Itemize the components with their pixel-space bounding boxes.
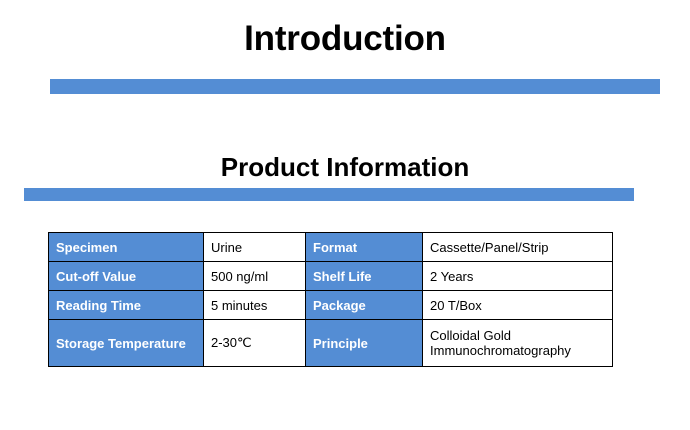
section-divider-bar — [24, 188, 634, 201]
cell-value-storage-temperature: 2-30℃ — [204, 320, 306, 367]
table-row: Cut-off Value 500 ng/ml Shelf Life 2 Yea… — [49, 262, 613, 291]
cell-label-specimen: Specimen — [49, 233, 204, 262]
cell-value-principle-line2: Immunochromatography — [430, 343, 605, 358]
cell-value-cut-off-value: 500 ng/ml — [204, 262, 306, 291]
title-divider-bar — [50, 79, 660, 94]
cell-value-principle: Colloidal Gold Immunochromatography — [423, 320, 613, 367]
page-title: Introduction — [0, 17, 690, 61]
table-row: Storage Temperature 2-30℃ Principle Coll… — [49, 320, 613, 367]
table-row: Specimen Urine Format Cassette/Panel/Str… — [49, 233, 613, 262]
cell-value-reading-time: 5 minutes — [204, 291, 306, 320]
cell-value-package: 20 T/Box — [423, 291, 613, 320]
section-title: Product Information — [0, 150, 690, 184]
cell-label-principle: Principle — [306, 320, 423, 367]
cell-label-shelf-life: Shelf Life — [306, 262, 423, 291]
product-information-table: Specimen Urine Format Cassette/Panel/Str… — [48, 232, 613, 367]
cell-value-specimen: Urine — [204, 233, 306, 262]
cell-label-format: Format — [306, 233, 423, 262]
cell-value-format: Cassette/Panel/Strip — [423, 233, 613, 262]
cell-label-cut-off-value: Cut-off Value — [49, 262, 204, 291]
cell-label-reading-time: Reading Time — [49, 291, 204, 320]
cell-label-storage-temperature: Storage Temperature — [49, 320, 204, 367]
slide: Introduction Product Information Specime… — [0, 0, 690, 430]
cell-value-principle-line1: Colloidal Gold — [430, 328, 605, 343]
table-row: Reading Time 5 minutes Package 20 T/Box — [49, 291, 613, 320]
cell-label-package: Package — [306, 291, 423, 320]
cell-value-shelf-life: 2 Years — [423, 262, 613, 291]
